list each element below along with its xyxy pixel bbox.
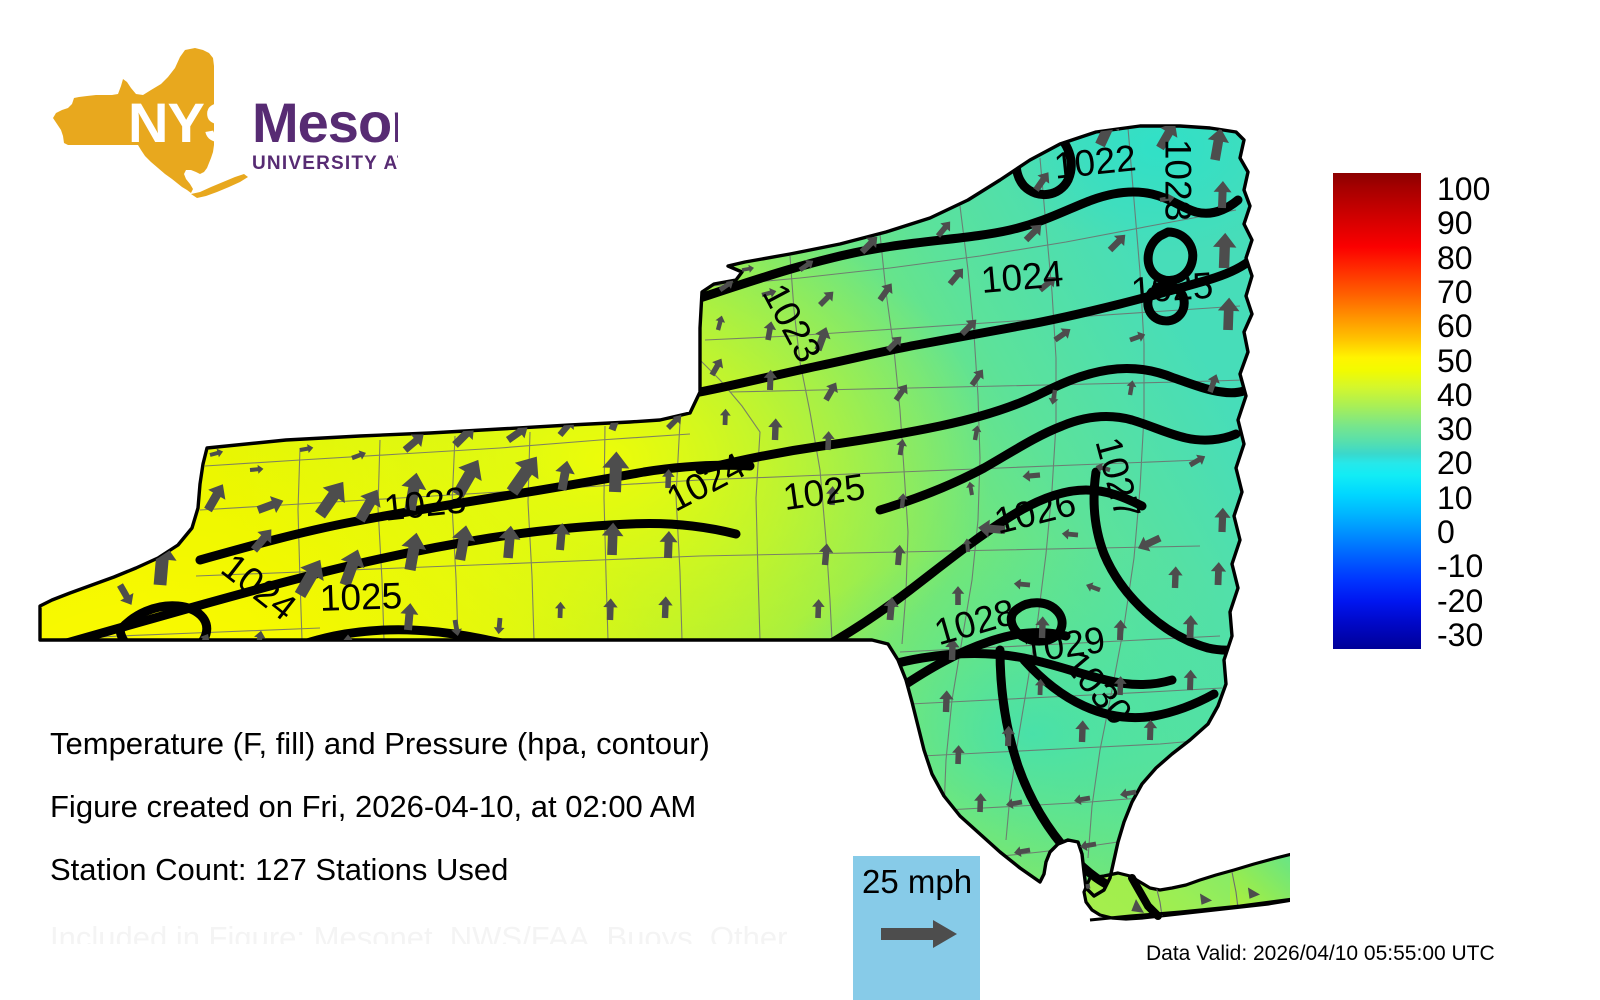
- caption-created: Figure created on Fri, 2026-04-10, at 02…: [50, 775, 870, 838]
- colorbar-tick: 70: [1437, 276, 1557, 308]
- contour-fragment-b: [659, 663, 693, 690]
- colorbar-tick: 60: [1437, 310, 1557, 342]
- caption-title: Temperature (F, fill) and Pressure (hpa,…: [50, 712, 870, 775]
- colorbar-tick: 90: [1437, 207, 1557, 239]
- wind-scale-label: 25 mph: [862, 862, 972, 902]
- contour-label: 10251025: [1130, 265, 1215, 312]
- svg-text:1023: 1023: [382, 479, 468, 528]
- contour-label: 10231023: [382, 479, 468, 528]
- contour-label: 10231023: [1158, 139, 1199, 221]
- svg-text:1022: 1022: [1052, 137, 1138, 186]
- svg-text:1024: 1024: [979, 253, 1065, 301]
- colorbar-tick: 10: [1437, 482, 1557, 514]
- colorbar-tick: 40: [1437, 379, 1557, 411]
- contour-1022-loop-a: [927, 133, 970, 199]
- svg-text:1023: 1023: [1158, 139, 1199, 221]
- contour-label: 10221022: [1052, 137, 1138, 186]
- svg-text:1025: 1025: [319, 575, 403, 619]
- colorbar-tick: 0: [1437, 516, 1557, 548]
- colorbar-tick: 20: [1437, 447, 1557, 479]
- contour-fragment-a: [810, 644, 842, 690]
- wind-scale-legend: 25 mph: [853, 856, 980, 1000]
- colorbar-tick: 80: [1437, 242, 1557, 274]
- colorbar-tick: -20: [1437, 585, 1557, 617]
- contour-1025-loop: [492, 659, 564, 703]
- caption-block: Temperature (F, fill) and Pressure (hpa,…: [50, 712, 870, 901]
- colorbar-tick: 100: [1437, 173, 1557, 205]
- colorbar-tick: -30: [1437, 619, 1557, 651]
- colorbar-tick: 30: [1437, 413, 1557, 445]
- colorbar-tick: -10: [1437, 550, 1557, 582]
- svg-text:1025: 1025: [1130, 265, 1215, 312]
- contour-label: 10241024: [979, 253, 1065, 301]
- colorbar-gradient: [1333, 173, 1421, 649]
- colorbar-tick: 50: [1437, 345, 1557, 377]
- contour-label: 10251025: [319, 575, 403, 619]
- wind-arrow-east-icon: [881, 918, 959, 950]
- caption-station-count: Station Count: 127 Stations Used: [50, 838, 870, 901]
- data-valid-timestamp: Data Valid: 2026/04/10 05:55:00 UTC: [1146, 942, 1495, 966]
- colorbar: 1009080706050403020100-10-20-30: [1333, 173, 1573, 651]
